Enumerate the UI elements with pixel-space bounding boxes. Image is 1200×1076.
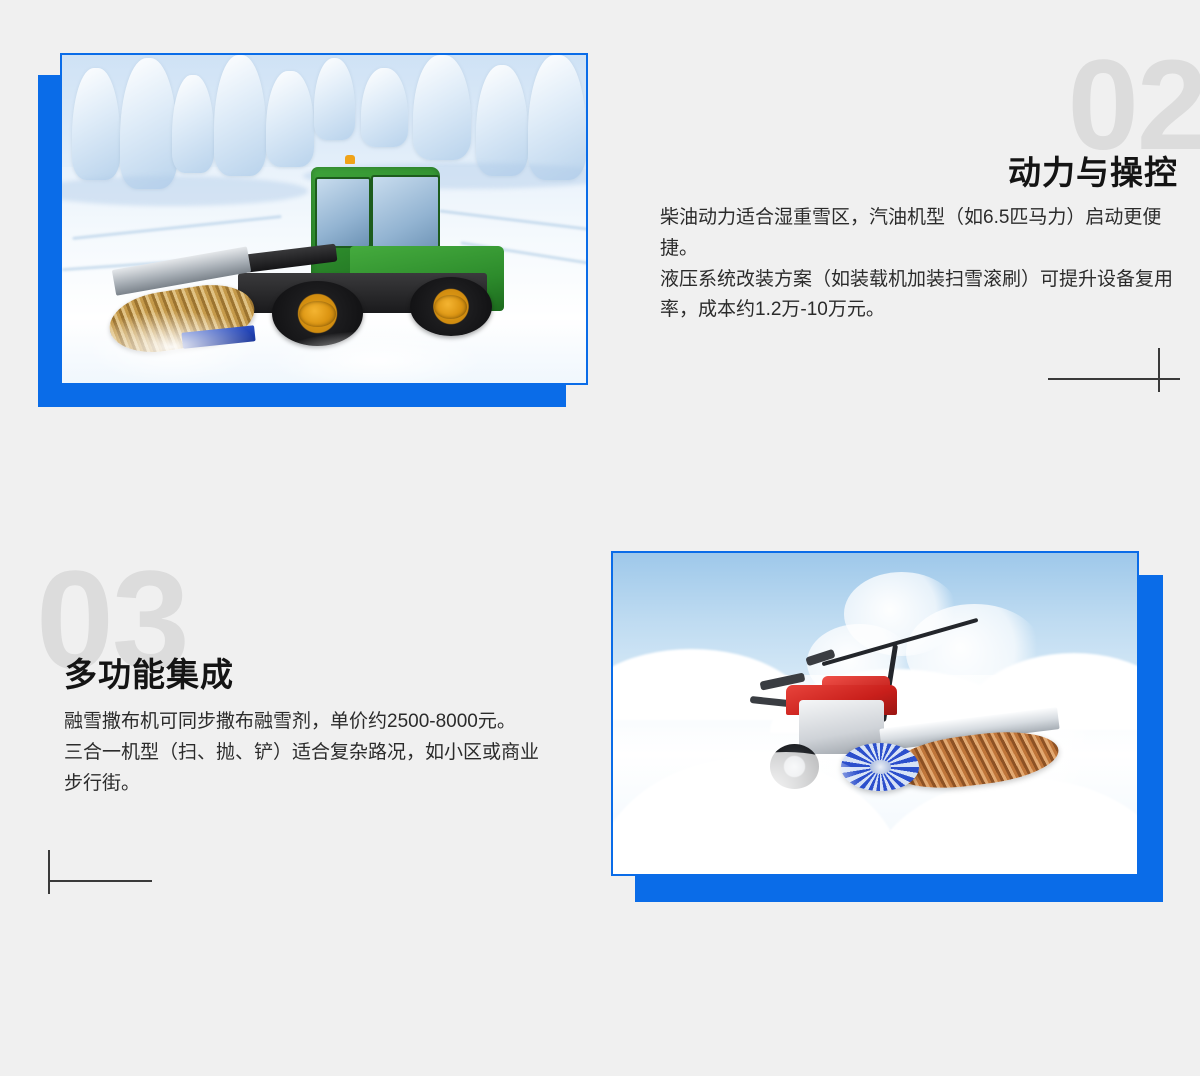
section-heading-03: 多功能集成	[64, 658, 234, 691]
beacon-light-icon	[345, 155, 355, 164]
cab-window	[315, 177, 371, 248]
section-number-watermark-02: 02	[1068, 42, 1200, 170]
vehicle-wheel	[410, 277, 492, 336]
section-image-02	[60, 53, 588, 385]
section-image-03	[611, 551, 1139, 876]
rule-vertical	[1158, 348, 1160, 392]
section-heading-02: 动力与操控	[1008, 156, 1178, 189]
rule-vertical	[48, 850, 50, 894]
rule-horizontal	[48, 880, 152, 882]
section-paragraph: 柴油动力适合湿重雪区，汽油机型（如6.5匹马力）启动更便捷。	[660, 203, 1178, 265]
section-body-02: 柴油动力适合湿重雪区，汽油机型（如6.5匹马力）启动更便捷。 液压系统改装方案（…	[660, 203, 1178, 326]
decorative-corner-rule-03	[48, 850, 152, 894]
section-paragraph: 液压系统改装方案（如装载机加装扫雪滚刷）可提升设备复用率，成本约1.2万-10万…	[660, 265, 1178, 327]
control-lever	[750, 696, 790, 707]
handle-grip	[805, 649, 836, 667]
snow-spray	[88, 311, 256, 383]
snow-spray-cloud	[623, 784, 780, 874]
rule-horizontal	[1048, 378, 1180, 380]
section-paragraph: 融雪撒布机可同步撒布融雪剂，单价约2500-8000元。	[64, 707, 546, 738]
section-body-03: 融雪撒布机可同步撒布融雪剂，单价约2500-8000元。 三合一机型（扫、抛、铲…	[64, 707, 546, 799]
decorative-corner-rule-02	[1048, 348, 1180, 392]
snow-tree-icon	[413, 55, 471, 160]
snow-tree-icon	[361, 68, 408, 147]
section-paragraph: 三合一机型（扫、抛、铲）适合复杂路况，如小区或商业步行街。	[64, 738, 546, 800]
snow-tree-icon	[266, 71, 313, 166]
cab-window	[371, 175, 439, 254]
feature-panels-page: 02 动力与操控 柴油动力适合湿重雪区，汽油机型（如6.5匹马力）启动更便捷。 …	[0, 0, 1200, 1076]
section-image-03-content	[613, 553, 1137, 874]
section-image-02-content	[62, 55, 586, 383]
